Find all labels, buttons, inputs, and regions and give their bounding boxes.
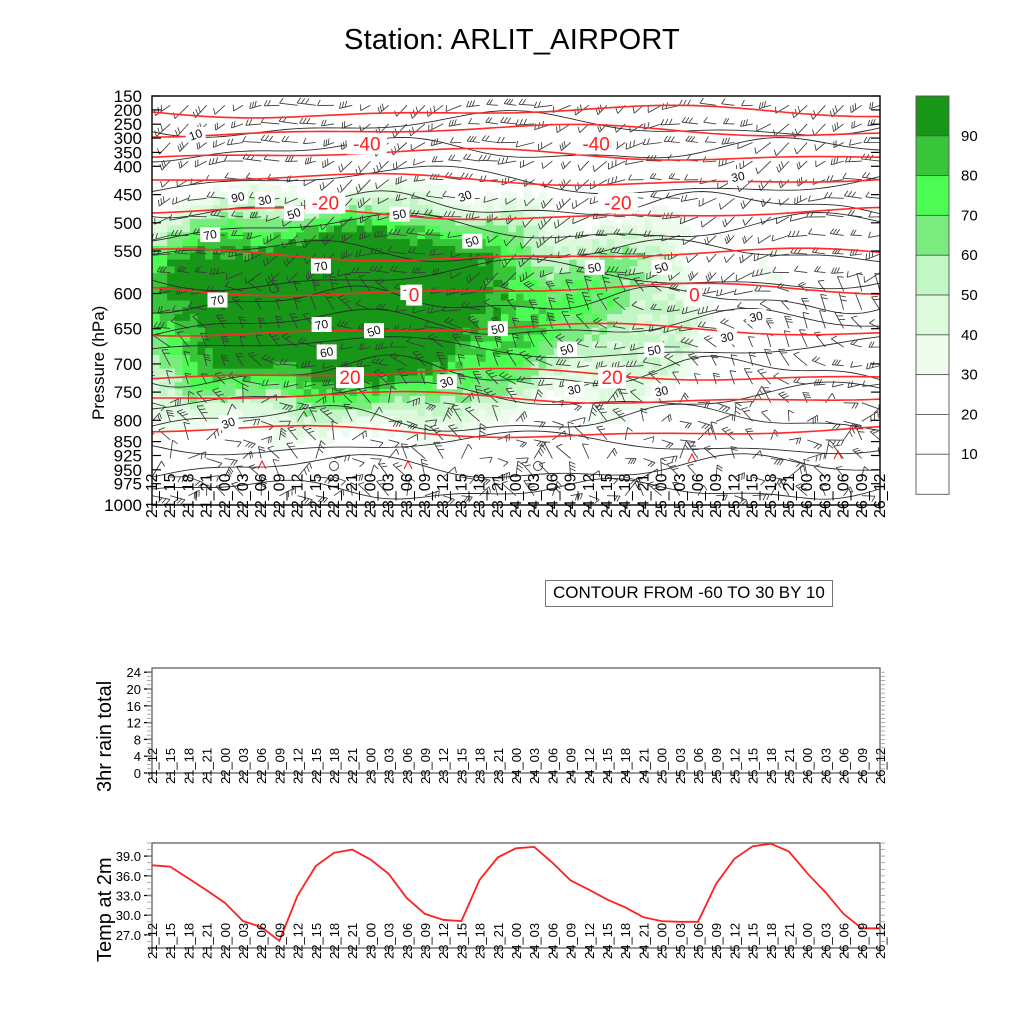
time-tick-label: 24_00: [509, 748, 524, 784]
rain-tick-label: 24: [127, 665, 141, 680]
isotherm-label: -40: [582, 134, 609, 155]
colorbar-tick-label: 50: [961, 287, 978, 304]
time-tick-label: 23_12: [435, 473, 452, 518]
colorbar-band: [916, 295, 949, 335]
time-tick-label: 26_03: [817, 473, 834, 518]
time-tick-label: 26_12: [873, 748, 888, 784]
time-tick-label: 22_12: [291, 748, 306, 784]
time-tick-label: 25_09: [709, 748, 724, 784]
time-tick-label: 22_03: [235, 473, 252, 518]
time-tick-label: 22_18: [327, 748, 342, 784]
time-tick-label: 22_09: [272, 923, 287, 959]
colorbar-band: [916, 414, 949, 454]
time-tick-label: 22_00: [218, 923, 233, 959]
colorbar-tick-label: 30: [961, 367, 978, 384]
time-tick-label: 24_03: [527, 923, 542, 959]
pressure-tick-label: 500: [114, 214, 142, 233]
time-tick-label: 23_15: [454, 923, 469, 959]
pressure-tick-label: 800: [114, 411, 142, 430]
rain-tick-label: 4: [134, 749, 141, 764]
rain-axis-label: 3hr rain total: [94, 681, 117, 792]
time-tick-label: 21_21: [200, 923, 215, 959]
time-tick-label: 26_00: [800, 748, 815, 784]
time-tick-label: 25_00: [655, 923, 670, 959]
colorbar-band: [916, 96, 949, 136]
colorbar-tick-label: 20: [961, 406, 978, 423]
colorbar-tick-label: 90: [961, 128, 978, 145]
time-tick-label: 26_03: [818, 748, 833, 784]
time-tick-label: 26_12: [872, 473, 889, 518]
time-tick-label: 25_09: [709, 923, 724, 959]
colorbar-band: [916, 335, 949, 375]
time-tick-label: 22_06: [254, 923, 269, 959]
time-tick-label: 24_09: [563, 473, 580, 518]
time-tick-label: 24_21: [636, 923, 651, 959]
pressure-tick-label: 975: [114, 475, 142, 494]
isotherm-label: 0: [409, 286, 420, 307]
main-time-axis: 21_1221_1521_1821_2122_0022_0322_0622_09…: [144, 473, 889, 518]
rain-axis-label-wrap: 3hr rain total: [74, 660, 98, 790]
time-tick-label: 26_00: [800, 923, 815, 959]
rain-tick-label: 16: [127, 699, 141, 714]
time-tick-label: 24_06: [545, 923, 560, 959]
time-tick-label: 22_00: [218, 748, 233, 784]
time-tick-label: 26_06: [837, 923, 852, 959]
time-tick-label: 25_21: [781, 473, 798, 518]
temp-tick-label: 39.0: [116, 849, 141, 864]
time-tick-label: 23_06: [400, 923, 415, 959]
time-tick-label: 24_21: [636, 748, 651, 784]
time-tick-label: 22_06: [254, 748, 269, 784]
colorbar-tick-label: 40: [961, 327, 978, 344]
time-tick-label: 26_03: [818, 923, 833, 959]
time-tick-label: 25_12: [727, 748, 742, 784]
time-tick-label: 25_15: [746, 923, 761, 959]
time-tick-label: 23_09: [418, 923, 433, 959]
colorbar-tick-label: 60: [961, 247, 978, 264]
time-tick-label: 22_21: [345, 923, 360, 959]
time-tick-label: 21_12: [145, 748, 160, 784]
time-tick-label: 24_12: [581, 473, 598, 518]
pressure-tick-label: 400: [114, 157, 142, 176]
time-tick-label: 24_03: [526, 473, 543, 518]
time-tick-label: 24_03: [527, 748, 542, 784]
time-tick-label: 25_03: [672, 473, 689, 518]
time-tick-label: 22_12: [291, 923, 306, 959]
time-tick-label: 23_03: [381, 473, 398, 518]
time-tick-label: 21_21: [200, 748, 215, 784]
temp-tick-label: 33.0: [116, 889, 141, 904]
time-tick-label: 25_15: [745, 473, 762, 518]
time-tick-label: 23_12: [436, 748, 451, 784]
pressure-tick-label: 1000: [104, 496, 142, 515]
pressure-axis-label: Pressure (hPa): [89, 306, 109, 420]
time-tick-label: 23_15: [454, 748, 469, 784]
isotherm-label: 0: [689, 286, 700, 307]
time-tick-label: 24_12: [582, 748, 597, 784]
pressure-tick-label: 750: [114, 383, 142, 402]
colorbar-band: [916, 136, 949, 176]
time-tick-label: 25_06: [691, 923, 706, 959]
pressure-tick-label: 550: [114, 242, 142, 261]
time-tick-label: 25_03: [673, 748, 688, 784]
colorbar-band: [916, 375, 949, 415]
rain-tick-label: 20: [127, 682, 141, 697]
colorbar-band: [916, 176, 949, 216]
colorbar-band: [916, 255, 949, 295]
rain-tick-label: 12: [127, 716, 141, 731]
colorbar-tick-label: 70: [961, 207, 978, 224]
time-tick-label: 25_06: [691, 748, 706, 784]
time-tick-label: 24_21: [635, 473, 652, 518]
time-tick-label: 23_00: [362, 473, 379, 518]
time-tick-label: 26_06: [837, 748, 852, 784]
time-tick-label: 25_15: [746, 748, 761, 784]
time-tick-label: 23_09: [417, 473, 434, 518]
time-tick-label: 25_18: [764, 923, 779, 959]
time-tick-label: 21_21: [199, 473, 216, 518]
pressure-tick-label: 650: [114, 320, 142, 339]
time-tick-label: 25_00: [655, 748, 670, 784]
time-tick-label: 22_09: [272, 748, 287, 784]
colorbar: 908070605040302010: [916, 96, 978, 494]
time-tick-label: 22_03: [236, 748, 251, 784]
time-tick-label: 23_15: [453, 473, 470, 518]
pressure-tick-label: 450: [114, 186, 142, 205]
time-tick-label: 23_00: [363, 923, 378, 959]
time-tick-label: 21_15: [163, 923, 178, 959]
time-tick-label: 25_21: [782, 748, 797, 784]
time-tick-label: 22_15: [308, 473, 325, 518]
time-tick-label: 26_09: [855, 923, 870, 959]
temp-axis-label: Temp at 2m: [94, 858, 117, 962]
time-tick-label: 26_09: [854, 473, 871, 518]
time-tick-label: 22_18: [327, 923, 342, 959]
time-tick-label: 26_00: [799, 473, 816, 518]
rain-panel: 2420161284021_1221_1521_1821_2122_0022_0…: [127, 665, 888, 784]
time-tick-label: 21_12: [144, 473, 161, 518]
time-tick-label: 26_09: [855, 748, 870, 784]
time-tick-label: 21_18: [181, 923, 196, 959]
time-tick-label: 23_21: [491, 748, 506, 784]
time-tick-label: 21_18: [181, 748, 196, 784]
isotherm-label: -20: [604, 194, 631, 215]
time-tick-label: 25_18: [763, 473, 780, 518]
time-tick-label: 24_12: [582, 923, 597, 959]
contour-note: CONTOUR FROM -60 TO 30 BY 10: [553, 583, 825, 602]
time-tick-label: 23_21: [490, 473, 507, 518]
time-tick-label: 22_15: [309, 923, 324, 959]
time-tick-label: 24_06: [544, 473, 561, 518]
time-tick-label: 23_06: [399, 473, 416, 518]
time-tick-label: 24_15: [600, 748, 615, 784]
time-tick-label: 25_06: [690, 473, 707, 518]
time-tick-label: 22_18: [326, 473, 343, 518]
pressure-axis-label-wrap: Pressure (hPa): [71, 180, 95, 420]
isotherm-label: -40: [353, 134, 380, 155]
temp-panel: 39.036.033.030.027.021_1221_1521_1821_21…: [116, 843, 888, 959]
time-tick-label: 24_18: [618, 748, 633, 784]
time-tick-label: 26_12: [873, 923, 888, 959]
contour-note-box: CONTOUR FROM -60 TO 30 BY 10: [545, 580, 833, 607]
time-tick-label: 23_18: [473, 923, 488, 959]
time-tick-label: 22_09: [271, 473, 288, 518]
time-tick-label: 23_12: [436, 923, 451, 959]
time-tick-label: 25_09: [708, 473, 725, 518]
pressure-tick-label: 700: [114, 355, 142, 374]
isotherm-label: 20: [602, 368, 623, 389]
time-tick-label: 23_18: [472, 473, 489, 518]
time-tick-label: 25_12: [727, 923, 742, 959]
figure-root: Station: ARLIT_AIRPORT 10309030307050507…: [0, 0, 1024, 1024]
time-tick-label: 23_18: [473, 748, 488, 784]
time-tick-label: 25_21: [782, 923, 797, 959]
time-tick-label: 25_12: [726, 473, 743, 518]
time-tick-label: 24_00: [509, 923, 524, 959]
time-tick-label: 24_06: [545, 748, 560, 784]
isotherm-label: -20: [312, 194, 339, 215]
time-tick-label: 23_00: [363, 748, 378, 784]
time-tick-label: 22_21: [345, 748, 360, 784]
colorbar-band: [916, 215, 949, 255]
time-tick-label: 24_00: [508, 473, 525, 518]
time-tick-label: 25_03: [673, 923, 688, 959]
colorbar-tick-label: 80: [961, 168, 978, 185]
time-tick-label: 23_06: [400, 748, 415, 784]
time-tick-label: 22_03: [236, 923, 251, 959]
figure-canvas: 1030903030705050705070505070705050605050…: [0, 0, 1024, 1024]
time-tick-label: 24_18: [617, 473, 634, 518]
time-tick-label: 23_03: [382, 923, 397, 959]
temp-tick-label: 30.0: [116, 908, 141, 923]
time-tick-label: 24_15: [599, 473, 616, 518]
time-tick-label: 25_00: [654, 473, 671, 518]
time-tick-label: 21_18: [180, 473, 197, 518]
time-tick-label: 21_12: [145, 923, 160, 959]
temp-tick-label: 27.0: [116, 928, 141, 943]
time-tick-label: 24_18: [618, 923, 633, 959]
colorbar-band: [916, 454, 949, 494]
time-tick-label: 22_00: [217, 473, 234, 518]
time-tick-label: 22_06: [253, 473, 270, 518]
rain-tick-label: 0: [134, 766, 141, 781]
time-tick-label: 23_21: [491, 923, 506, 959]
temp-tick-label: 36.0: [116, 869, 141, 884]
temp-axis-label-wrap: Temp at 2m: [74, 840, 98, 960]
time-tick-label: 23_03: [382, 748, 397, 784]
colorbar-tick-label: 10: [961, 446, 978, 463]
time-tick-label: 21_15: [162, 473, 179, 518]
time-tick-label: 22_12: [290, 473, 307, 518]
time-tick-label: 22_15: [309, 748, 324, 784]
isotherm-label: 20: [339, 368, 360, 389]
time-tick-label: 24_09: [564, 748, 579, 784]
rain-tick-label: 8: [134, 732, 141, 747]
time-tick-label: 22_21: [344, 473, 361, 518]
time-tick-label: 26_06: [836, 473, 853, 518]
time-tick-label: 24_09: [564, 923, 579, 959]
pressure-tick-label: 600: [114, 285, 142, 304]
time-tick-label: 25_18: [764, 748, 779, 784]
time-tick-label: 23_09: [418, 748, 433, 784]
time-tick-label: 21_15: [163, 748, 178, 784]
time-tick-label: 24_15: [600, 923, 615, 959]
